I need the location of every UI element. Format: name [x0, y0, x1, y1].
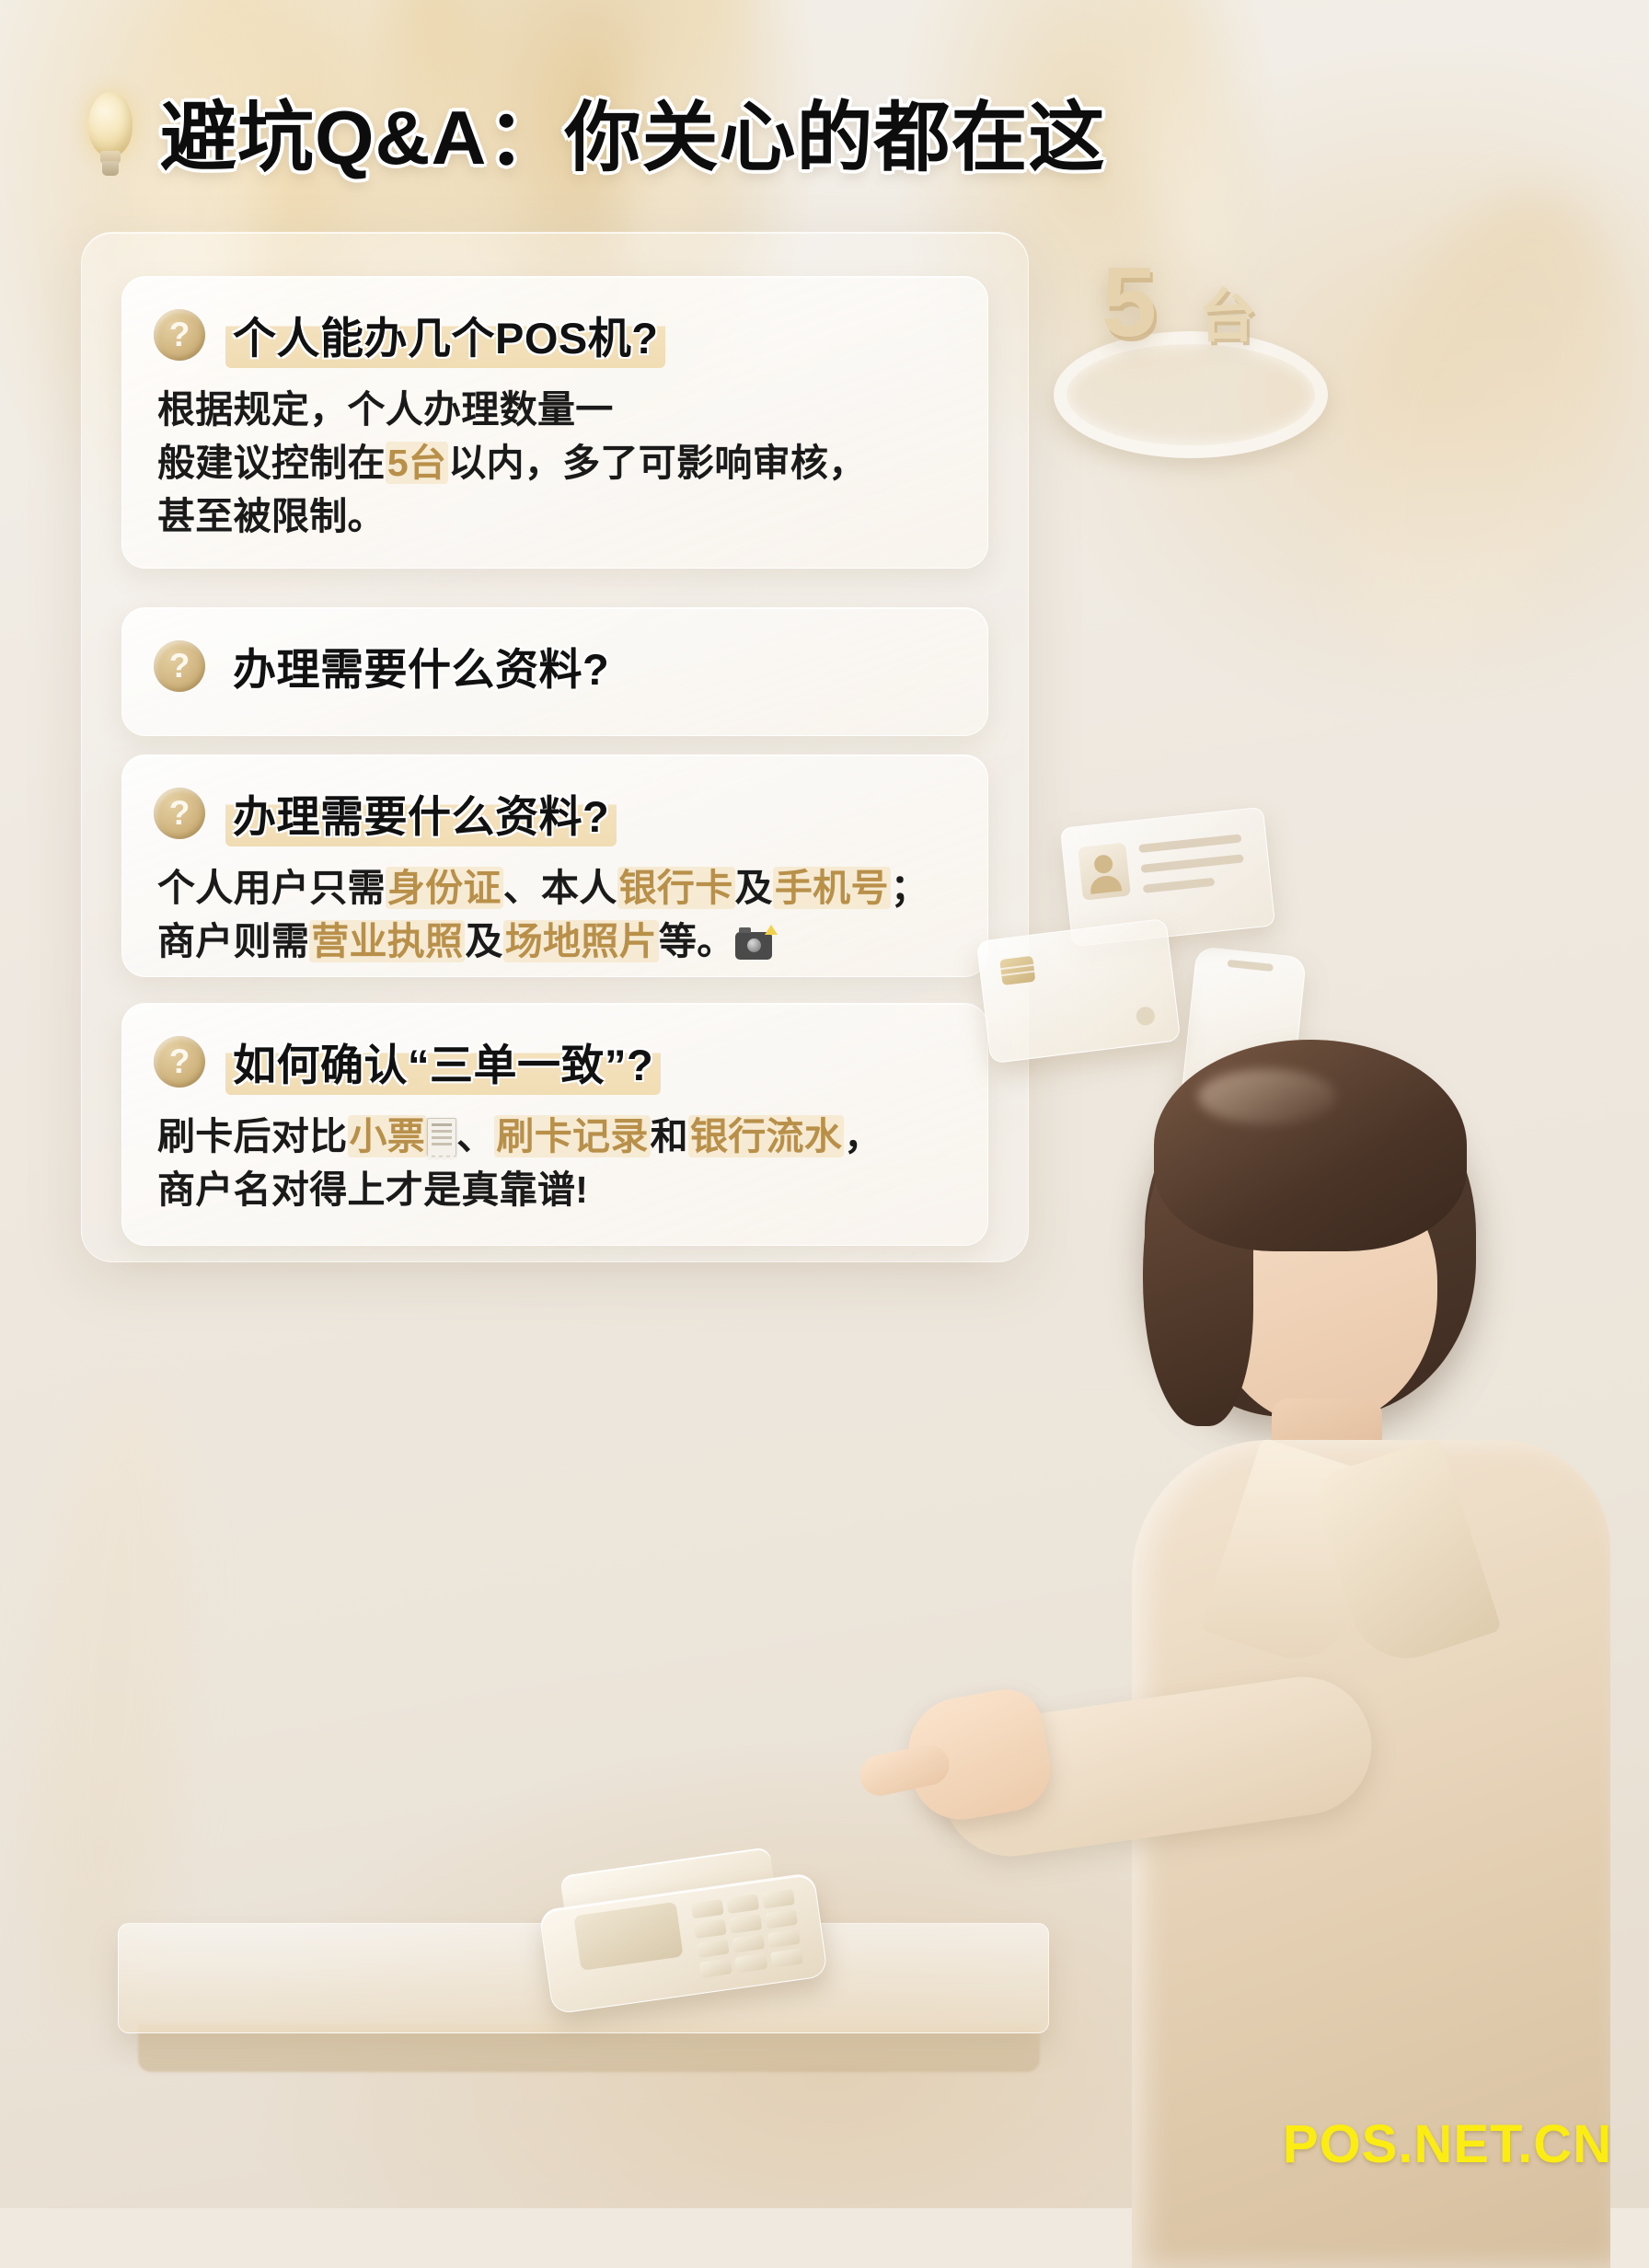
site-watermark: POS.NET.CN — [1283, 2113, 1612, 2175]
id-card-icon — [1060, 807, 1275, 947]
answer-line: 根据规定，个人办理数量一 — [157, 383, 956, 436]
faq-card[interactable]: ? 个人能办几个POS机? 根据规定，个人办理数量一般建议控制在5台以内，多了可… — [121, 276, 988, 569]
five-units-3d-graphic: 5 台 — [1044, 247, 1320, 440]
answer-text: 商户则需 — [157, 920, 309, 962]
faq-question-row: ? 办理需要什么资料? — [122, 755, 987, 846]
pos-screen — [573, 1902, 683, 1971]
count-unit: 台 — [1199, 289, 1256, 346]
highlighted-term: 营业执照 — [309, 920, 465, 962]
faq-question-text: 办理需要什么资料? — [225, 632, 617, 699]
answer-text: 等。 — [659, 920, 735, 962]
highlighted-term: 手机号 — [773, 867, 891, 909]
answer-line: 个人用户只需身份证、本人银行卡及手机号； — [157, 861, 956, 915]
character-illustration — [904, 1021, 1649, 2236]
answer-text: 个人用户只需 — [157, 867, 386, 909]
answer-text: 甚至被限制。 — [157, 495, 386, 537]
highlighted-term: 银行卡 — [617, 867, 735, 909]
question-mark-icon: ? — [154, 1036, 205, 1088]
answer-text: 、 — [456, 1115, 494, 1157]
faq-question-row: ? 办理需要什么资料? — [122, 608, 987, 699]
answer-text: 商户名对得上才是真靠谱! — [157, 1169, 588, 1211]
highlighted-term: 银行流水 — [688, 1115, 844, 1157]
faq-card[interactable]: ? 如何确认“三单一致”? 刷卡后对比小票、刷卡记录和银行流水，商户名对得上才是… — [121, 1003, 988, 1246]
highlighted-term: 5台 — [386, 442, 448, 484]
answer-text: 以内，多了可影响审核， — [448, 442, 866, 484]
faq-question-text: 个人能办几个POS机? — [225, 301, 665, 368]
question-mark-icon: ? — [154, 788, 205, 839]
faq-question-row: ? 如何确认“三单一致”? — [122, 1004, 987, 1095]
page-header: 避坑Q&A：你关心的都在这 — [85, 92, 1105, 182]
faq-question-text: 办理需要什么资料? — [225, 779, 617, 846]
highlighted-term: 身份证 — [386, 867, 503, 909]
faq-question-text: 如何确认“三单一致”? — [225, 1028, 661, 1095]
answer-text: ； — [891, 867, 928, 909]
receipt-icon — [427, 1118, 456, 1157]
highlighted-term: 小票 — [348, 1115, 428, 1157]
faq-answer-text: 个人用户只需身份证、本人银行卡及手机号；商户则需营业执照及场地照片等。 — [122, 846, 987, 968]
faq-answer-text: 刷卡后对比小票、刷卡记录和银行流水，商户名对得上才是真靠谱! — [122, 1095, 987, 1216]
hair-highlight — [1198, 1069, 1336, 1124]
pos-keypad — [691, 1889, 803, 1978]
faq-answer-text: 根据规定，个人办理数量一般建议控制在5台以内，多了可影响审核，甚至被限制。 — [122, 368, 987, 544]
answer-text: 及 — [735, 867, 773, 909]
camera-icon — [735, 932, 772, 960]
answer-text: 和 — [651, 1115, 688, 1157]
answer-text: 根据规定，个人办理数量一 — [157, 388, 614, 431]
answer-text: ， — [844, 1115, 882, 1157]
faq-card[interactable]: ? 办理需要什么资料? — [121, 607, 988, 736]
highlighted-term: 刷卡记录 — [494, 1115, 650, 1157]
answer-line: 般建议控制在5台以内，多了可影响审核， — [157, 436, 956, 489]
question-mark-icon: ? — [154, 309, 205, 361]
page-title: 避坑Q&A：你关心的都在这 — [160, 99, 1105, 176]
faq-question-row: ? 个人能办几个POS机? — [122, 277, 987, 368]
answer-text: 般建议控制在 — [157, 442, 386, 484]
hair-front — [1154, 1040, 1467, 1251]
question-mark-icon: ? — [154, 640, 205, 692]
answer-line: 商户名对得上才是真靠谱! — [157, 1163, 956, 1216]
highlighted-term: 场地照片 — [503, 920, 659, 962]
faq-card[interactable]: ? 办理需要什么资料? 个人用户只需身份证、本人银行卡及手机号；商户则需营业执照… — [121, 754, 988, 977]
answer-text: 、本人 — [503, 867, 617, 909]
lightbulb-icon — [85, 92, 136, 182]
ring-shape — [1054, 331, 1328, 458]
answer-text: 刷卡后对比 — [157, 1115, 348, 1157]
answer-line: 甚至被限制。 — [157, 489, 956, 543]
answer-line: 商户则需营业执照及场地照片等。 — [157, 915, 956, 968]
count-number: 5 — [1101, 252, 1157, 351]
answer-line: 刷卡后对比小票、刷卡记录和银行流水， — [157, 1110, 956, 1163]
answer-text: 及 — [465, 920, 502, 962]
